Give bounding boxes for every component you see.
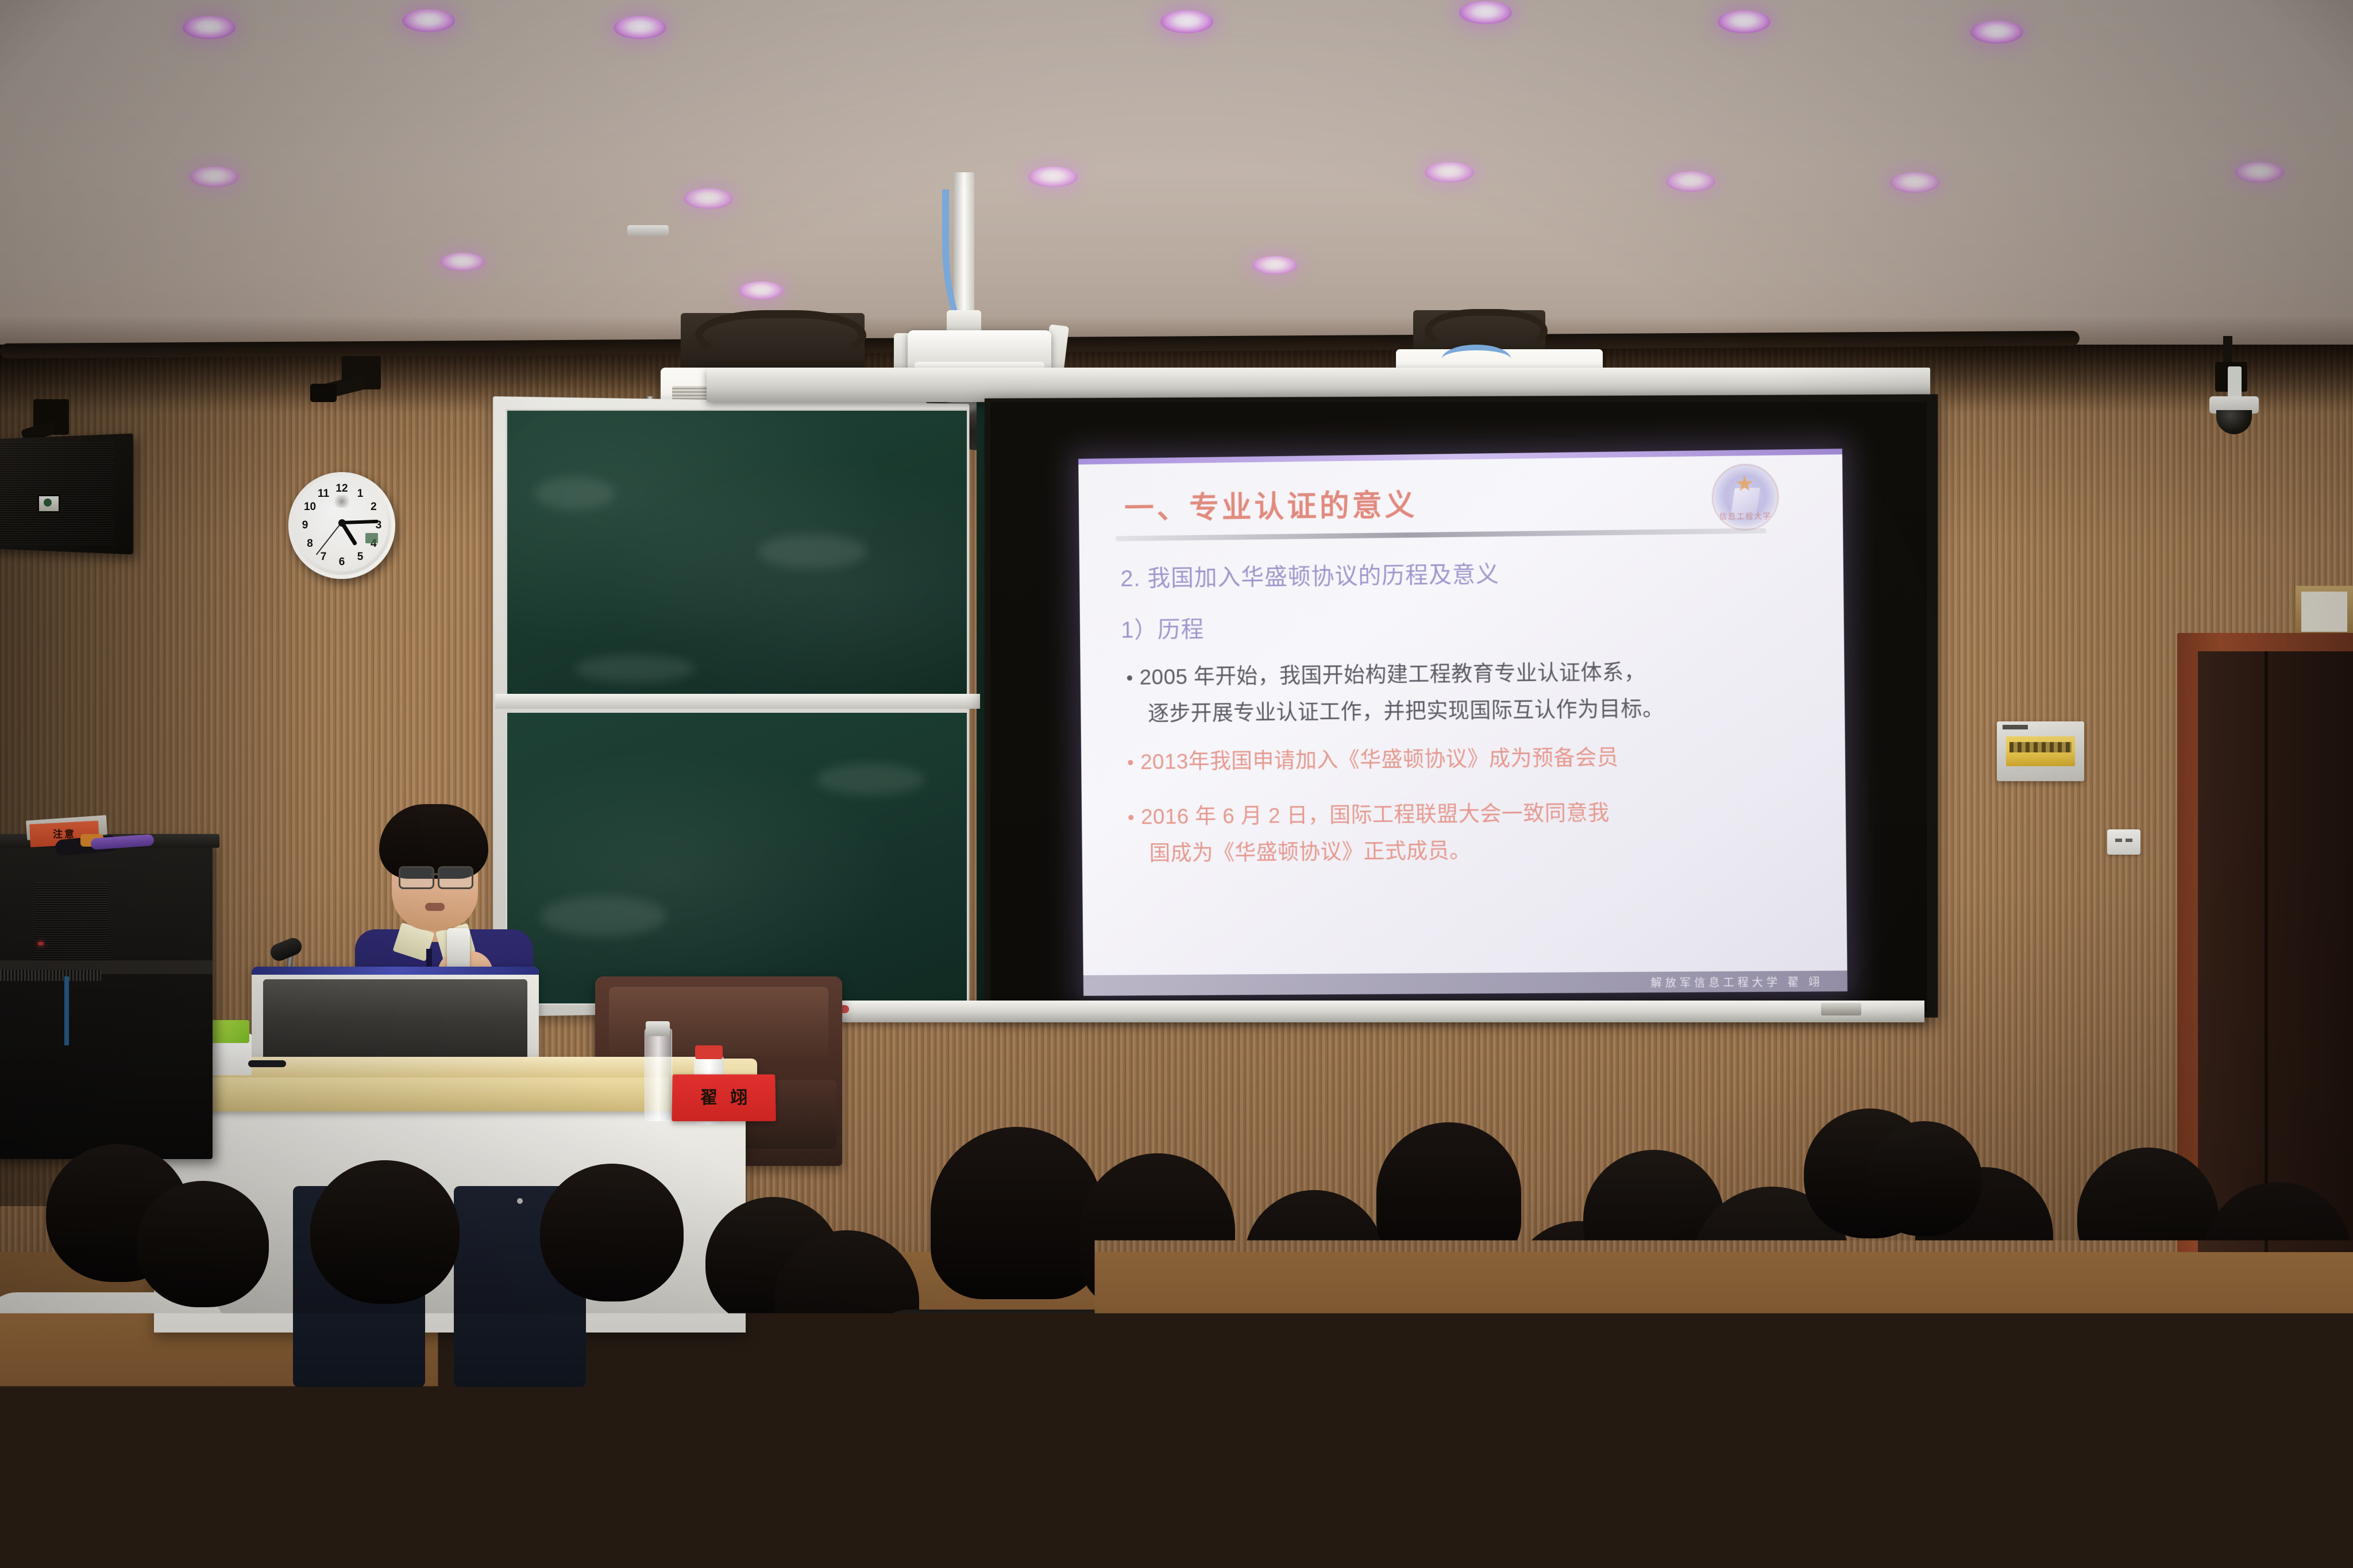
audience-head-22 (1620, 1338, 1781, 1505)
audience-shoulders-22 (1568, 1511, 1856, 1568)
audience-head-18 (2204, 1182, 2352, 1329)
audience-head-17 (2077, 1148, 2219, 1288)
audience-head-8 (1080, 1153, 1235, 1308)
lecture-hall-photo: 121234567891011 一、专业认证的意义 信息工程大学 2. 我国加入… (0, 0, 2353, 1568)
audience-head-10 (1376, 1122, 1521, 1265)
audience-head-19 (2045, 1310, 2217, 1476)
audience-head-21 (1166, 1344, 1338, 1516)
audience-shoulders-21 (1109, 1516, 1407, 1568)
audience-head-3 (310, 1160, 460, 1304)
audience-head-7 (931, 1127, 1103, 1299)
audience-shoulders-19 (1988, 1482, 2286, 1568)
audience-head-16 (1867, 1121, 1982, 1236)
audience-shoulders-3 (270, 1315, 523, 1511)
audience-shoulders-16 (1838, 1254, 2028, 1415)
audience-head-4 (540, 1164, 684, 1301)
audience-head-20 (586, 1321, 747, 1482)
audience-head-2 (137, 1181, 269, 1307)
audience-shoulders-20 (534, 1493, 810, 1568)
audience-group (0, 0, 2353, 1568)
